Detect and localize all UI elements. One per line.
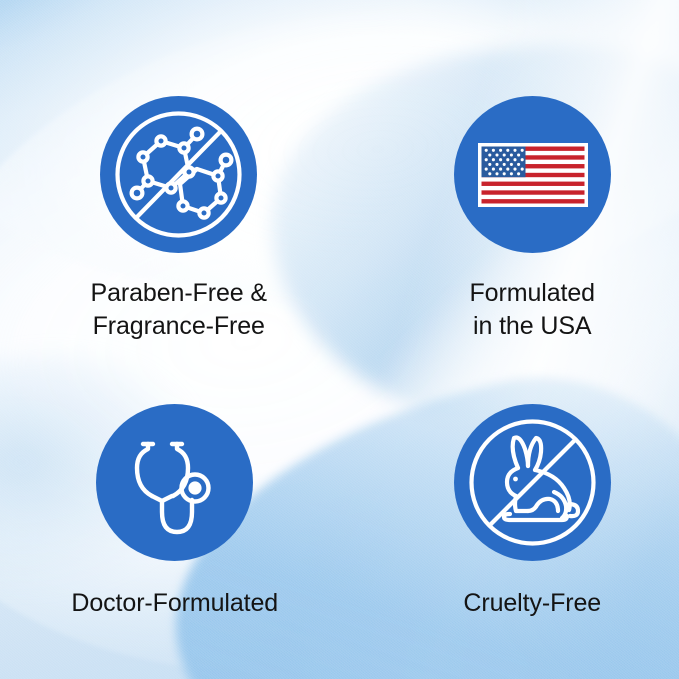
badge-circle-cruelty-free bbox=[454, 404, 611, 561]
benefit-label-paraben-fragrance-free: Paraben-Free & Fragrance-Free bbox=[91, 277, 267, 344]
product-benefits-graphic: Paraben-Free & Fragrance-Free bbox=[0, 0, 679, 679]
benefit-label-doctor-formulated: Doctor-Formulated bbox=[71, 587, 278, 620]
benefit-item-cruelty-free: Cruelty-Free bbox=[340, 344, 679, 679]
badge-circle-paraben-fragrance-free bbox=[100, 96, 257, 253]
benefit-label-cruelty-free: Cruelty-Free bbox=[463, 587, 601, 620]
usa-flag-icon bbox=[454, 96, 611, 253]
badge-circle-doctor-formulated bbox=[96, 404, 253, 561]
benefits-grid: Paraben-Free & Fragrance-Free bbox=[0, 0, 679, 679]
no-paraben-molecule-icon bbox=[100, 96, 257, 253]
badge-circle-formulated-in-usa bbox=[454, 96, 611, 253]
benefit-item-paraben-fragrance-free: Paraben-Free & Fragrance-Free bbox=[0, 0, 340, 344]
benefit-label-formulated-in-usa: Formulated in the USA bbox=[470, 277, 595, 344]
no-rabbit-icon bbox=[454, 404, 611, 561]
benefit-item-formulated-in-usa: Formulated in the USA bbox=[340, 0, 679, 344]
stethoscope-icon bbox=[96, 404, 253, 561]
benefit-item-doctor-formulated: Doctor-Formulated bbox=[0, 344, 340, 679]
